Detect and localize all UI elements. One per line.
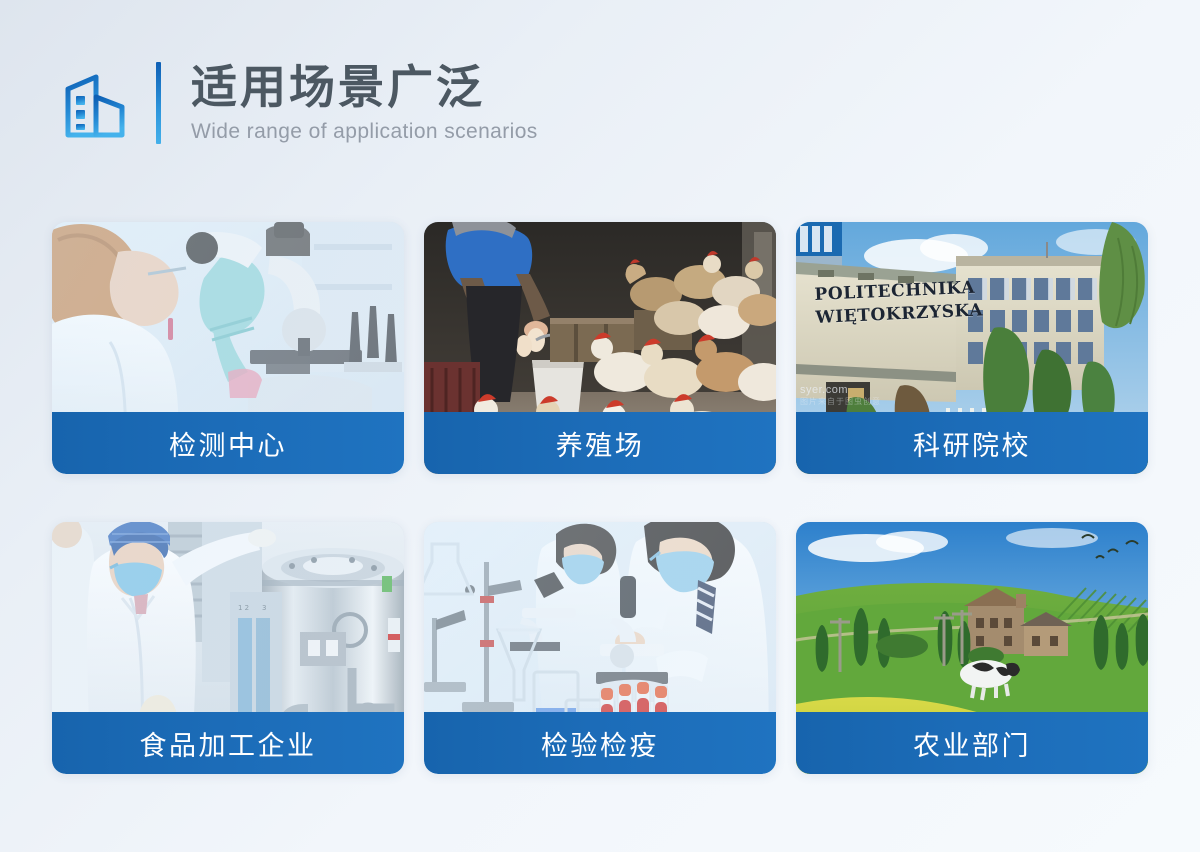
building-icon xyxy=(62,65,134,141)
page-title: 适用场景广泛 xyxy=(191,62,538,114)
svg-text:1 2: 1 2 xyxy=(238,604,249,612)
scenario-card-breeding-farm[interactable]: 养殖场 xyxy=(424,222,776,474)
scenario-card-agriculture-department[interactable]: 农业部门 xyxy=(796,522,1148,774)
scenario-card-inspection-quarantine[interactable]: 检验检疫 xyxy=(424,522,776,774)
image-watermark: syer.com 图片来自于图虫创意 xyxy=(800,384,881,406)
scenario-card-food-processing-enterprise[interactable]: 1 23 xyxy=(52,522,404,774)
header-divider xyxy=(156,62,161,144)
svg-text:3: 3 xyxy=(262,604,266,612)
card-label-research-institute: 科研院校 xyxy=(796,412,1148,474)
scenario-card-testing-center[interactable]: 检测中心 xyxy=(52,222,404,474)
building-sign-text: POLITECHNIKA WIĘTOKRZYSKA xyxy=(814,276,984,329)
page-header: 适用场景广泛 Wide range of application scenari… xyxy=(62,62,538,144)
watermark-line-1: syer.com xyxy=(800,384,881,397)
card-label-inspection-quarantine: 检验检疫 xyxy=(424,712,776,774)
card-label-food-processing-enterprise: 食品加工企业 xyxy=(52,712,404,774)
scenario-card-grid: 检测中心 xyxy=(52,222,1148,774)
page-subtitle: Wide range of application scenarios xyxy=(191,120,538,144)
header-text-block: 适用场景广泛 Wide range of application scenari… xyxy=(191,62,538,144)
scenario-card-research-institute[interactable]: POLITECHNIKA WIĘTOKRZYSKA syer.com 图片来自于… xyxy=(796,222,1148,474)
card-label-agriculture-department: 农业部门 xyxy=(796,712,1148,774)
card-label-testing-center: 检测中心 xyxy=(52,412,404,474)
card-label-breeding-farm: 养殖场 xyxy=(424,412,776,474)
watermark-line-2: 图片来自于图虫创意 xyxy=(800,397,881,406)
